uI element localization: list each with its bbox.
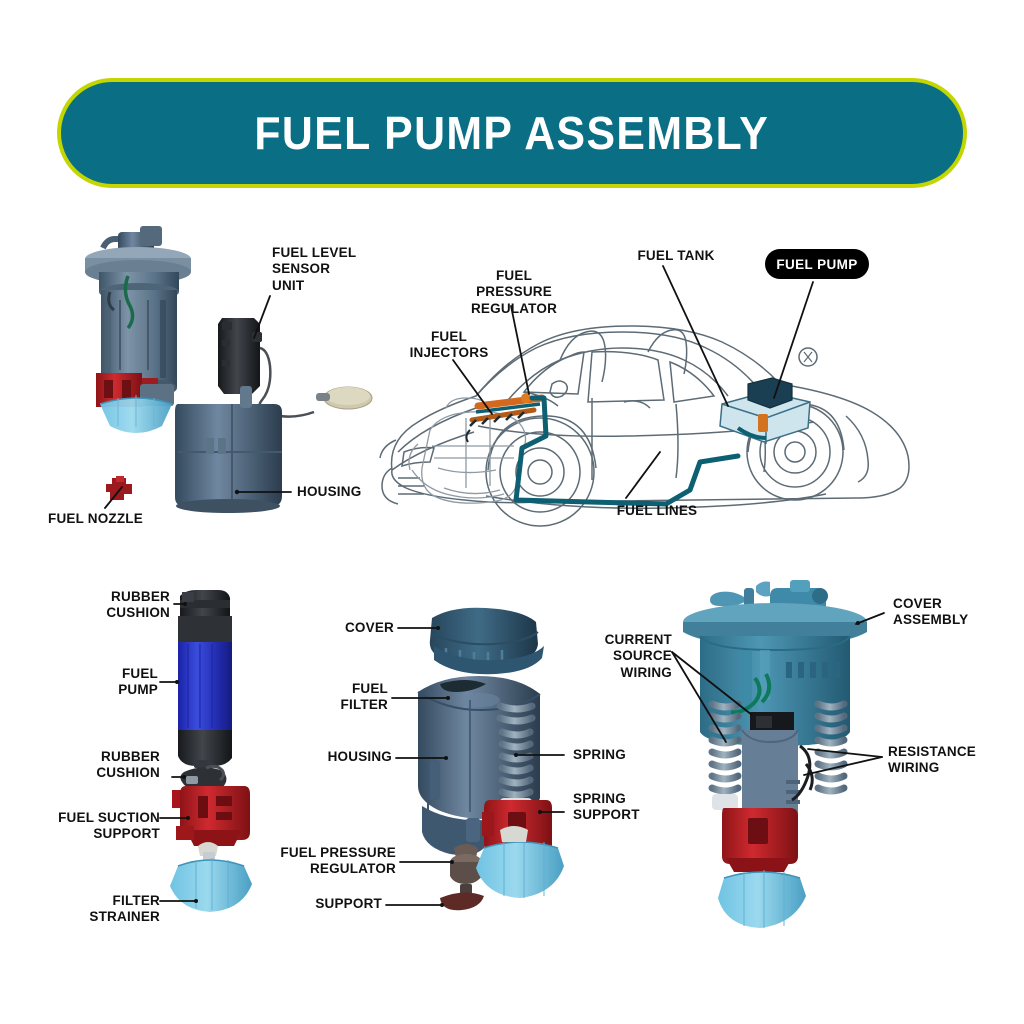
diagram-canvas: FUEL PUMP ASSEMBLY [0,0,1024,1024]
label-fuel-pressure-regulator-mid: FUEL PRESSURE REGULATOR [276,845,396,878]
label-fuel-pump-left: FUEL PUMP [62,666,158,699]
bottom-right-artwork [672,580,884,928]
bottom-left-artwork [160,590,252,912]
label-cover: COVER [318,620,394,636]
label-fuel-lines: FUEL LINES [602,503,712,519]
page-title-banner: FUEL PUMP ASSEMBLY [57,78,967,188]
label-fuel-injectors: FUEL INJECTORS [402,329,496,362]
fuel-rail-artwork [466,393,542,442]
label-support: SUPPORT [300,896,382,912]
label-fuel-nozzle: FUEL NOZZLE [48,511,143,527]
fuel-pump-badge: FUEL PUMP [765,249,869,279]
engine-artwork [409,398,526,503]
label-fuel-pressure-regulator-car: FUEL PRESSURE REGULATOR [466,268,562,317]
label-rubber-cushion-top: RUBBER CUSHION [62,589,170,622]
label-fuel-level-sensor-unit: FUEL LEVEL SENSOR UNIT [272,245,356,294]
label-fuel-suction-support: FUEL SUCTION SUPPORT [40,810,160,843]
label-resistance-wiring: RESISTANCE WIRING [888,744,976,777]
label-current-source-wiring: CURRENT SOURCE WIRING [596,632,672,681]
label-housing-top: HOUSING [297,484,361,500]
label-fuel-filter: FUEL FILTER [318,681,388,714]
label-cover-assembly: COVER ASSEMBLY [893,596,968,629]
label-fuel-tank: FUEL TANK [626,248,726,264]
fuel-tank-artwork [720,378,810,444]
page-title: FUEL PUMP ASSEMBLY [255,106,770,160]
label-spring: SPRING [573,747,626,763]
label-rubber-cushion-bottom: RUBBER CUSHION [52,749,160,782]
bottom-middle-artwork [386,608,564,911]
label-housing-mid: HOUSING [308,749,392,765]
label-spring-support: SPRING SUPPORT [573,791,640,824]
fuel-lines-artwork [516,398,738,504]
label-filter-strainer: FILTER STRAINER [62,893,160,926]
